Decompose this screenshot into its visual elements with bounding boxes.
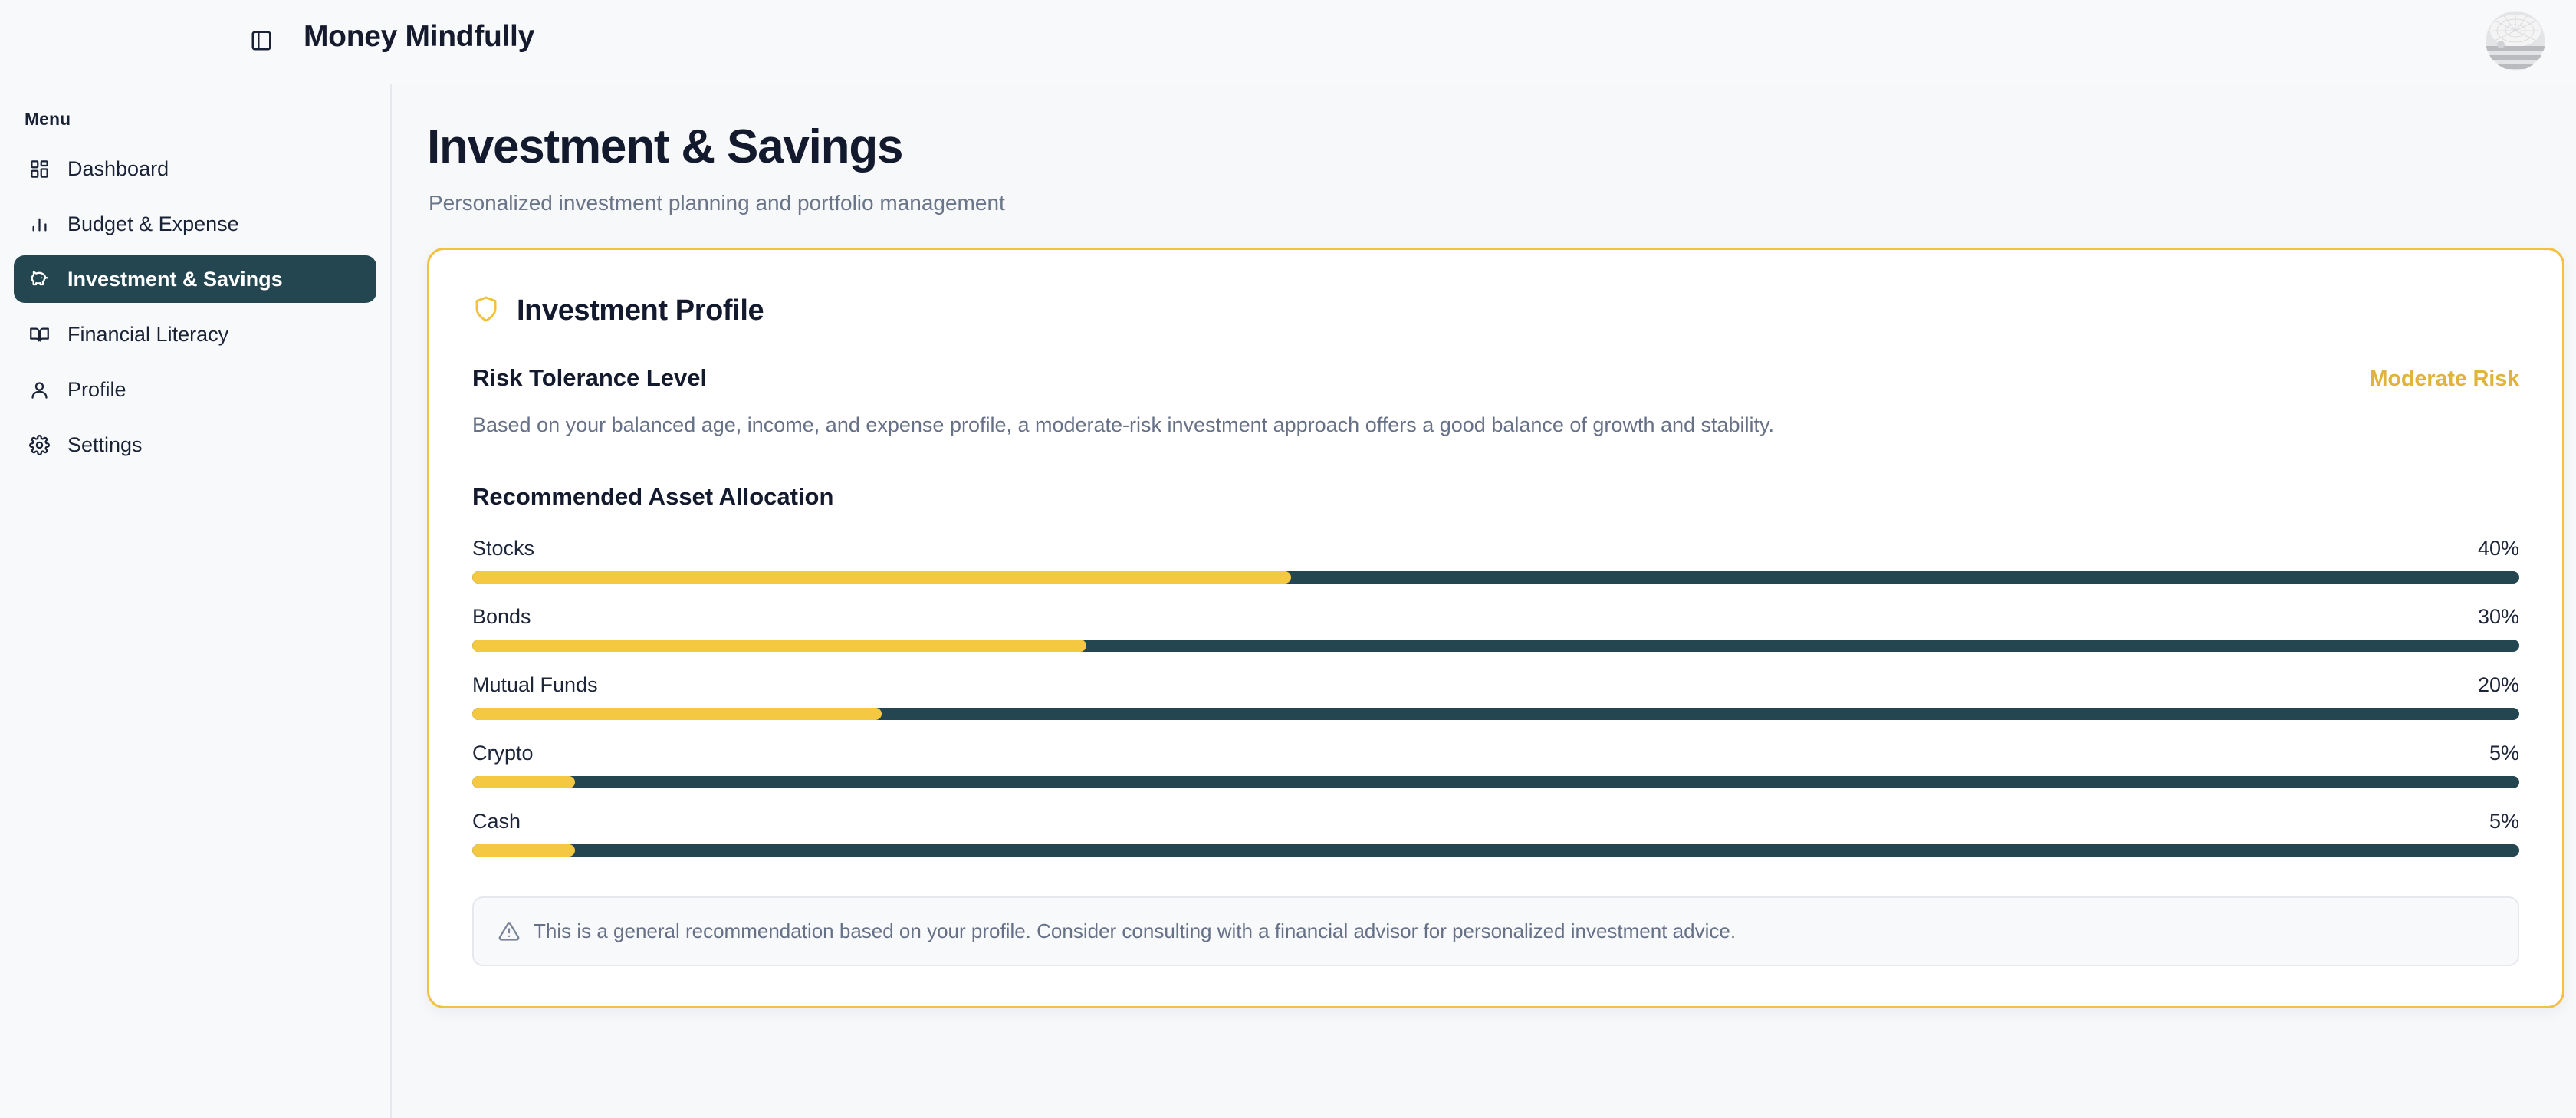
disclaimer-box: This is a general recommendation based o… [472,896,2519,966]
main-content: Investment & Savings Personalized invest… [393,84,2576,1118]
sidebar-item-budget-expense[interactable]: Budget & Expense [14,200,376,248]
sidebar-item-label: Financial Literacy [67,323,228,347]
allocation-section-title: Recommended Asset Allocation [472,483,2519,511]
allocation-label: Mutual Funds [472,673,598,697]
risk-description: Based on your balanced age, income, and … [472,412,2519,439]
sidebar-section-label: Menu [0,109,390,130]
avatar[interactable] [2486,11,2545,71]
user-icon [26,377,52,403]
allocation-label: Bonds [472,605,531,629]
allocation-value: 30% [2478,605,2519,629]
book-open-icon [26,321,52,347]
disclaimer-text: This is a general recommendation based o… [534,919,1736,943]
sidebar-item-investment-savings[interactable]: Investment & Savings [14,255,376,303]
grid-icon [26,156,52,182]
allocation-row: Bonds 30% [472,605,2519,652]
sidebar-item-label: Budget & Expense [67,212,239,236]
risk-tolerance-row: Risk Tolerance Level Moderate Risk [472,364,2519,392]
allocation-row: Mutual Funds 20% [472,673,2519,720]
allocation-label: Cash [472,810,521,834]
top-bar: Money Mindfully [0,0,2576,84]
card-title: Investment Profile [517,294,764,327]
page-title: Investment & Savings [427,120,2530,174]
sidebar-item-label: Dashboard [67,157,169,181]
allocation-label: Stocks [472,537,534,561]
allocation-row: Cash 5% [472,810,2519,857]
sidebar-item-profile[interactable]: Profile [14,366,376,413]
investment-profile-card: Investment Profile Risk Tolerance Level … [427,248,2564,1008]
allocation-value: 20% [2478,673,2519,697]
allocation-row: Crypto 5% [472,741,2519,788]
shield-icon [472,295,500,327]
allocation-value: 5% [2489,810,2519,834]
sidebar-toggle-button[interactable] [245,26,278,58]
allocation-bar-fill [472,776,575,788]
card-header: Investment Profile [472,294,2519,327]
bar-chart-icon [26,211,52,237]
allocation-bar-fill [472,571,1291,584]
allocation-bar-track [472,776,2519,788]
sidebar-item-label: Profile [67,378,127,402]
sidebar-item-financial-literacy[interactable]: Financial Literacy [14,311,376,358]
user-avatar-image [2486,11,2545,71]
allocation-row: Stocks 40% [472,537,2519,584]
allocation-bar-fill [472,640,1086,652]
allocation-value: 40% [2478,537,2519,561]
allocation-bar-fill [472,708,882,720]
sidebar: Menu Dashboard Budget & Expense Investme… [0,84,392,1118]
allocation-bar-fill [472,844,575,857]
risk-tolerance-label: Risk Tolerance Level [472,364,707,392]
allocation-bar-track [472,708,2519,720]
sidebar-item-label: Investment & Savings [67,268,283,291]
app-title: Money Mindfully [304,20,534,54]
piggy-bank-icon [26,266,52,292]
sidebar-item-dashboard[interactable]: Dashboard [14,145,376,192]
allocation-bar-track [472,640,2519,652]
allocation-list: Stocks 40% Bonds 30% Mutual Funds [472,537,2519,857]
panel-left-icon [250,29,273,56]
allocation-value: 5% [2489,741,2519,765]
allocation-bar-track [472,844,2519,857]
gear-icon [26,432,52,458]
sidebar-item-label: Settings [67,433,143,457]
sidebar-item-settings[interactable]: Settings [14,421,376,469]
triangle-alert-icon [498,921,520,942]
allocation-bar-track [472,571,2519,584]
allocation-label: Crypto [472,741,534,765]
risk-level-badge: Moderate Risk [2369,367,2519,392]
page-subtitle: Personalized investment planning and por… [429,191,2530,215]
